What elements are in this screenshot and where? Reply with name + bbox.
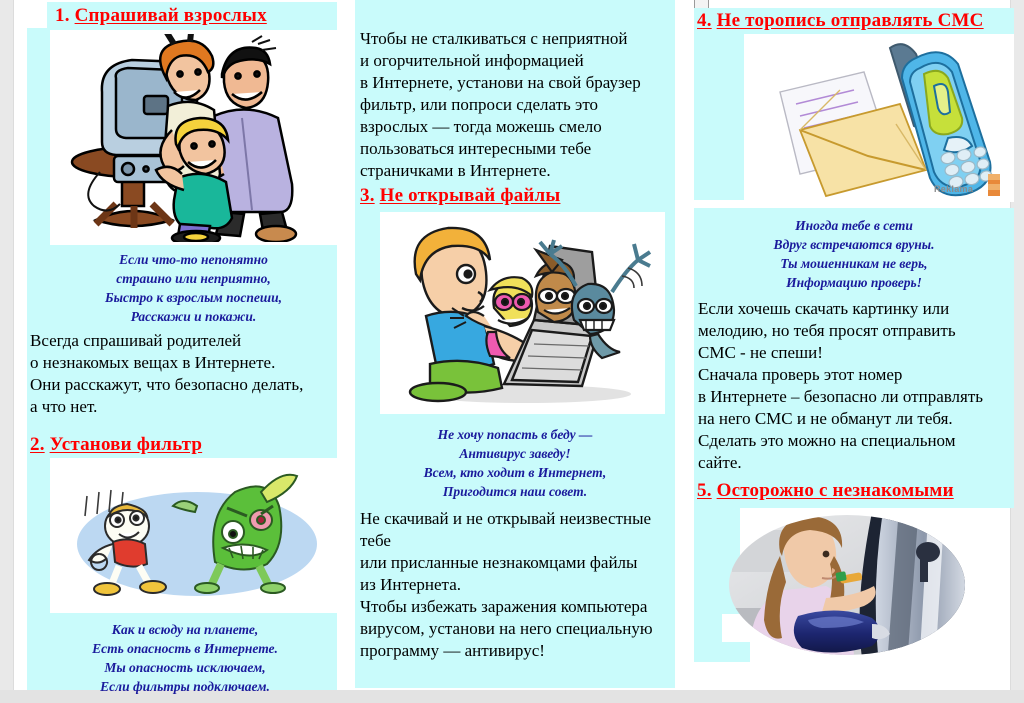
section4-body: Если хочешь скачать картинку или мелодию… (698, 298, 1014, 474)
section1-poem: Если что-то непонятно страшно или неприя… (50, 250, 337, 326)
boy-with-laptop-monsters-illustration (386, 216, 661, 412)
section4-poem: Иногда тебе в сети Вдруг встречаются вру… (700, 216, 1008, 292)
mobile-phone-with-envelope-illustration (744, 34, 1014, 202)
section1-heading-number: 1. (55, 5, 70, 26)
section1-heading-text: Спрашивай взрослых (75, 5, 267, 26)
section2-heading-text: Установи фильтр (50, 434, 203, 455)
section4-heading: 4. Не торопись отправлять СМС (697, 10, 984, 32)
family-at-computer-illustration (56, 34, 331, 242)
section2-heading: 2. Установи фильтр (30, 434, 202, 456)
section1-image (56, 34, 331, 242)
virus-chasing-character-illustration (55, 462, 332, 610)
section5-image (722, 512, 972, 658)
section3-body: Не скачивай и не открывай неизвестные те… (360, 508, 674, 662)
section4-heading-number: 4. (697, 10, 712, 31)
section1-heading: 1. Спрашивай взрослых (55, 5, 267, 27)
section3-heading-number: 3. (360, 185, 375, 206)
section1-body: Всегда спрашивай родителей о незнакомых … (30, 330, 340, 418)
section5-heading-text: Осторожно с незнакомыми (717, 480, 954, 501)
brochure-page: 1. Спрашивай взрослых (0, 0, 1024, 703)
section3-poem: Не хочу попасть в беду — Антивирус завед… (370, 425, 660, 501)
section3-heading: 3. Не открывай файлы (360, 185, 560, 207)
section4-left-stub (694, 34, 744, 200)
section5-decoration-step-2 (694, 614, 722, 642)
image-watermark-text: Reklama (934, 184, 973, 194)
section5-heading: 5. Осторожно с незнакомыми (697, 480, 954, 502)
section2-image (55, 462, 332, 610)
girl-at-car-window-photo (722, 512, 972, 658)
section2-heading-number: 2. (30, 434, 45, 455)
section4-heading-text: Не торопись отправлять СМС (717, 10, 984, 31)
section4-image (744, 34, 1014, 202)
section3-image (386, 216, 661, 412)
section3-heading-text: Не открывай файлы (380, 185, 561, 206)
section5-heading-number: 5. (697, 480, 712, 501)
middle-intro-body: Чтобы не сталкиваться с неприятной и ого… (360, 28, 678, 182)
section2-poem: Как и всюду на планете, Есть опасность в… (35, 620, 335, 696)
